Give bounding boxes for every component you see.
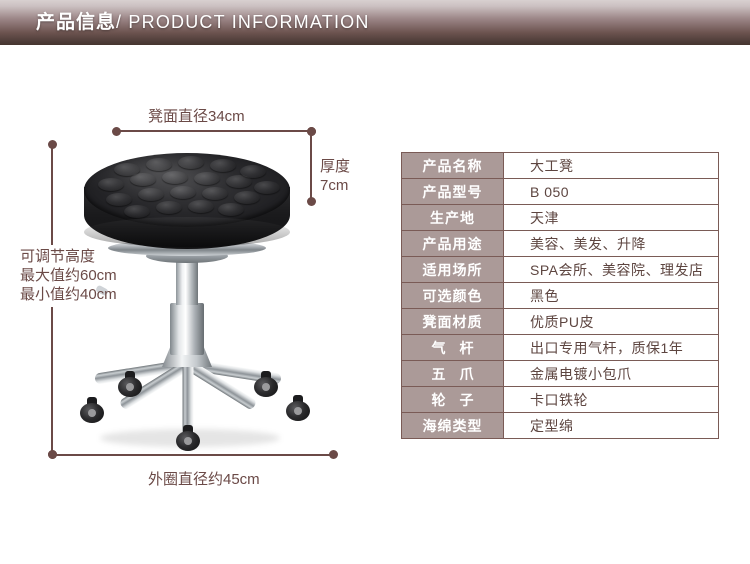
caster-right — [286, 395, 310, 421]
thickness-label-line2: 7cm — [320, 176, 348, 195]
height-line-upper — [51, 145, 53, 245]
thickness-dot-bottom — [307, 197, 316, 206]
table-row: 气杆出口专用气杆，质保1年 — [402, 335, 719, 361]
caster-hub — [262, 383, 270, 391]
spec-value-cell: 定型绵 — [504, 413, 719, 439]
caster-hub — [294, 407, 302, 415]
product-information-page: 产品信息/ PRODUCT INFORMATION — [0, 0, 750, 564]
thickness-line — [310, 131, 312, 201]
table-row: 凳面材质优质PU皮 — [402, 309, 719, 335]
spec-value-cell: 卡口铁轮 — [504, 387, 719, 413]
page-title: 产品信息/ PRODUCT INFORMATION — [36, 0, 370, 45]
spec-key-cell: 凳面材质 — [402, 309, 504, 335]
specification-table: 产品名称大工凳产品型号B 050生产地天津产品用途美容、美发、升降适用场所SPA… — [401, 152, 719, 439]
height-label-line2: 最大值约60cm — [20, 266, 117, 285]
outer-diameter-dot-right — [329, 450, 338, 459]
table-row: 可选颜色黑色 — [402, 283, 719, 309]
spec-value-cell: 大工凳 — [504, 153, 719, 179]
seat-tufting-pattern — [84, 153, 290, 227]
gas-lift-upper-rod — [176, 261, 198, 305]
spec-value-cell: 黑色 — [504, 283, 719, 309]
seat-diameter-line — [117, 130, 312, 132]
outer-diameter-label: 外圈直径约45cm — [148, 470, 260, 489]
table-row: 适用场所SPA会所、美容院、理发店 — [402, 257, 719, 283]
spec-key-cell: 可选颜色 — [402, 283, 504, 309]
spec-key-cell: 产品用途 — [402, 231, 504, 257]
height-line-lower — [51, 307, 53, 454]
caster-left — [80, 397, 104, 423]
page-header-banner: 产品信息/ PRODUCT INFORMATION — [0, 0, 750, 45]
caster-hub — [184, 437, 192, 445]
spec-key-cell: 适用场所 — [402, 257, 504, 283]
outer-diameter-line — [52, 454, 333, 456]
specification-table-body: 产品名称大工凳产品型号B 050生产地天津产品用途美容、美发、升降适用场所SPA… — [402, 153, 719, 439]
table-row: 产品名称大工凳 — [402, 153, 719, 179]
caster-front — [176, 425, 200, 451]
table-row: 轮子卡口铁轮 — [402, 387, 719, 413]
spec-key-cell: 五爪 — [402, 361, 504, 387]
table-row: 五爪金属电镀小包爪 — [402, 361, 719, 387]
height-label-line3: 最小值约40cm — [20, 285, 117, 304]
thickness-dot-top — [307, 127, 316, 136]
seat-rim-highlight — [84, 217, 290, 247]
caster-back-left — [118, 371, 142, 397]
height-label-line1: 可调节高度 — [20, 247, 95, 266]
spec-value-cell: 天津 — [504, 205, 719, 231]
table-row: 产品用途美容、美发、升降 — [402, 231, 719, 257]
table-row: 海绵类型定型绵 — [402, 413, 719, 439]
spec-key-cell: 产品名称 — [402, 153, 504, 179]
spec-value-cell: 美容、美发、升降 — [504, 231, 719, 257]
caster-hub — [126, 383, 134, 391]
height-dot-top — [48, 140, 57, 149]
spec-key-cell: 气杆 — [402, 335, 504, 361]
caster-back-right — [254, 371, 278, 397]
spec-value-cell: B 050 — [504, 179, 719, 205]
table-row: 产品型号B 050 — [402, 179, 719, 205]
page-title-english: / PRODUCT INFORMATION — [116, 12, 370, 32]
spec-key-cell: 轮子 — [402, 387, 504, 413]
table-row: 生产地天津 — [402, 205, 719, 231]
caster-hub — [88, 409, 96, 417]
seat-diameter-label: 凳面直径34cm — [148, 107, 245, 126]
page-title-chinese: 产品信息 — [36, 12, 116, 33]
thickness-label-line1: 厚度 — [320, 157, 350, 176]
spec-value-cell: SPA会所、美容院、理发店 — [504, 257, 719, 283]
stool-product-illustration — [78, 145, 346, 485]
spec-key-cell: 产品型号 — [402, 179, 504, 205]
spec-value-cell: 金属电镀小包爪 — [504, 361, 719, 387]
spec-value-cell: 出口专用气杆，质保1年 — [504, 335, 719, 361]
outer-diameter-dot-left — [48, 450, 57, 459]
seat-diameter-dot-left — [112, 127, 121, 136]
dimension-diagram: 凳面直径34cm 厚度 7cm 可调节高度 最大值约60cm 最小值约40cm … — [0, 45, 400, 515]
spec-key-cell: 生产地 — [402, 205, 504, 231]
spec-value-cell: 优质PU皮 — [504, 309, 719, 335]
spec-key-cell: 海绵类型 — [402, 413, 504, 439]
gas-lift-lower-sleeve — [170, 303, 204, 355]
